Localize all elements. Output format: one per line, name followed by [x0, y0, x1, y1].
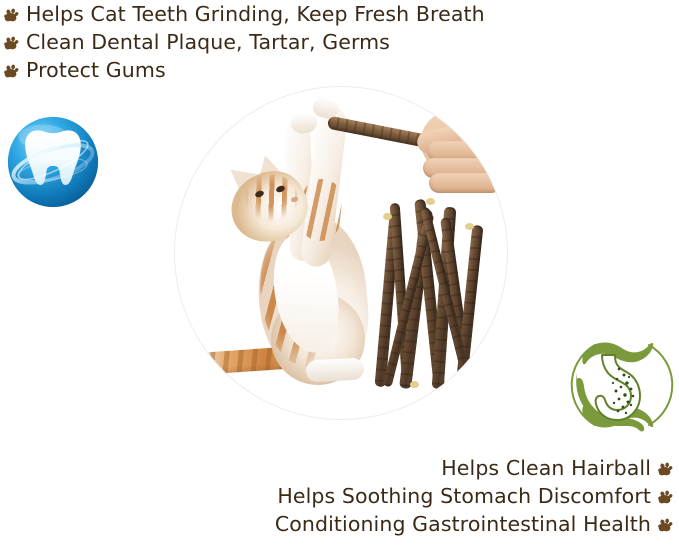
benefit-text: Helps Cat Teeth Grinding, Keep Fresh Bre… [26, 4, 485, 25]
benefit-text: Conditioning Gastrointestinal Health [275, 514, 651, 535]
stick-cut-tip [383, 213, 392, 220]
paw-print-icon [4, 8, 19, 23]
stick-cut-tip [465, 223, 474, 230]
hand-finger [429, 173, 501, 193]
paw-print-icon [658, 518, 673, 533]
cat-paw [290, 112, 318, 135]
benefit-item: Protect Gums [4, 56, 166, 84]
cat-with-matatabi-sticks-photo [175, 87, 507, 419]
tooth-in-blue-sphere-icon [5, 114, 101, 210]
benefit-item: Clean Dental Plaque, Tartar, Germs [4, 28, 390, 56]
stomach-in-cradling-hands-icon [567, 329, 677, 441]
benefit-text: Protect Gums [26, 60, 166, 81]
benefit-text: Helps Soothing Stomach Discomfort [277, 486, 651, 507]
bottom-benefits-list: Helps Clean Hairball Helps Soothing Stom… [275, 454, 673, 538]
benefit-text: Helps Clean Hairball [441, 458, 651, 479]
human-hand-holding-stick [403, 103, 507, 199]
stick-cut-tip [410, 381, 419, 388]
top-benefits-list: Helps Cat Teeth Grinding, Keep Fresh Bre… [4, 0, 485, 84]
cat-hind-foot [305, 357, 364, 382]
benefit-item: Helps Soothing Stomach Discomfort [277, 482, 673, 510]
stick-cut-tip [426, 198, 435, 205]
paw-print-icon [658, 462, 673, 477]
stick-cut-tip [448, 379, 457, 386]
paw-print-icon [658, 490, 673, 505]
paw-print-icon [4, 64, 19, 79]
benefit-item: Helps Clean Hairball [441, 454, 673, 482]
bundle-of-chew-sticks [380, 199, 490, 389]
benefit-text: Clean Dental Plaque, Tartar, Germs [26, 32, 390, 53]
benefit-item: Helps Cat Teeth Grinding, Keep Fresh Bre… [4, 0, 485, 28]
benefit-item: Conditioning Gastrointestinal Health [275, 510, 673, 538]
paw-print-icon [4, 36, 19, 51]
